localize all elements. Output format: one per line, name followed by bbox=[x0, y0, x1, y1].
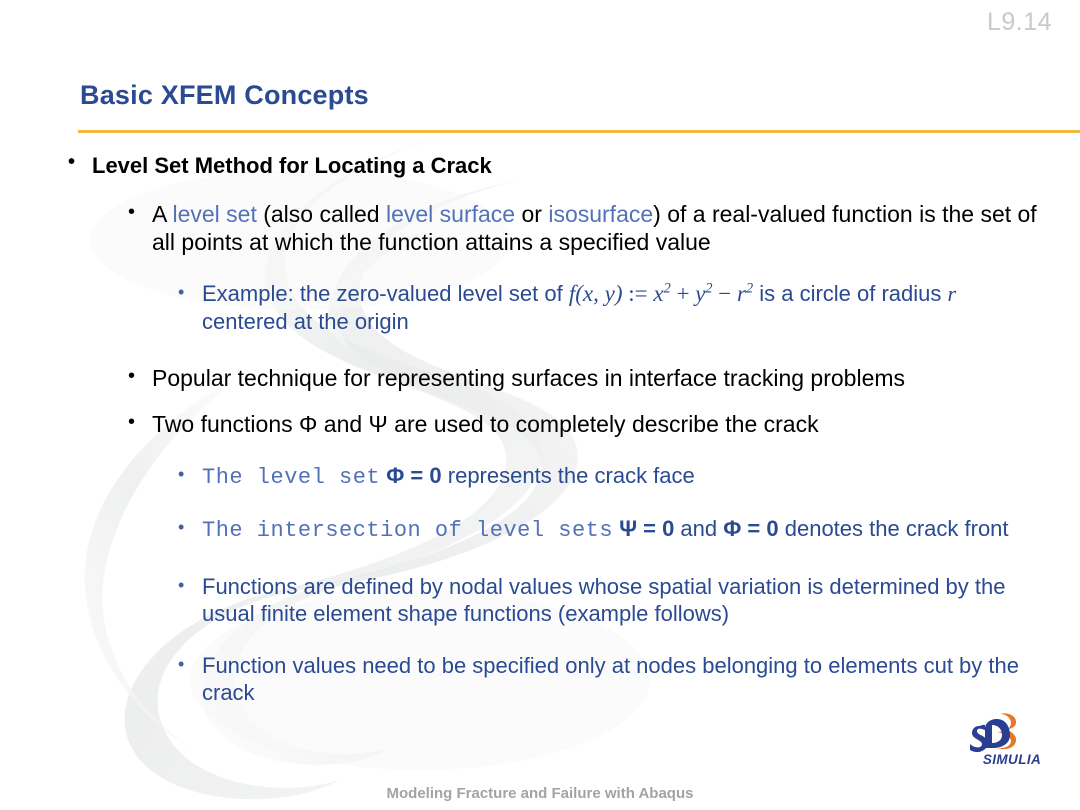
spacer bbox=[0, 398, 1080, 410]
formula-assign: := bbox=[628, 281, 647, 306]
term-level-set: level set bbox=[172, 201, 256, 227]
bullet-text: Level Set Method for Locating a Crack bbox=[92, 152, 1080, 180]
bullet-text: Two functions Φ and Ψ are used to comple… bbox=[152, 410, 1050, 438]
text-fragment: or bbox=[515, 201, 548, 227]
text-fragment: is a circle of radius bbox=[753, 281, 947, 306]
spacer bbox=[0, 634, 1080, 652]
bullet-text: Functions are defined by nodal values wh… bbox=[202, 573, 1045, 628]
bullet-popular-technique: • Popular technique for representing sur… bbox=[0, 364, 1080, 392]
spacer bbox=[0, 444, 1080, 462]
page-title: Basic XFEM Concepts bbox=[80, 80, 369, 111]
slide: L9.14 Basic XFEM Concepts • Level Set Me… bbox=[0, 0, 1080, 810]
bullet-dot-icon: • bbox=[128, 364, 135, 388]
bullet-nodal-values: • Functions are defined by nodal values … bbox=[0, 573, 1080, 628]
bullet-function-values: • Function values need to be specified o… bbox=[0, 652, 1080, 707]
text-fragment: Example: the zero-valued level set of bbox=[202, 281, 569, 306]
math-formula: f(x, y) := x2 + y2 − r2 bbox=[569, 281, 753, 306]
formula-y: y bbox=[695, 281, 705, 306]
text-fragment: and bbox=[674, 516, 723, 541]
bullet-dot-icon: • bbox=[68, 150, 75, 175]
bullet-text: The intersection of level sets Ψ = 0 and… bbox=[202, 515, 1045, 545]
text-fragment: A bbox=[152, 201, 172, 227]
bullet-level-set-definition: • A level set (also called level surface… bbox=[0, 200, 1080, 256]
spacer bbox=[0, 497, 1080, 515]
bullet-crack-front: • The intersection of level sets Ψ = 0 a… bbox=[0, 515, 1080, 545]
bullet-dot-icon: • bbox=[128, 410, 135, 434]
bullet-text: Popular technique for representing surfa… bbox=[152, 364, 1050, 392]
text-fragment: Two functions bbox=[152, 411, 299, 437]
bullet-level1-heading: • Level Set Method for Locating a Crack bbox=[0, 152, 1080, 180]
symbol-phi-equals-zero: Φ = 0 bbox=[386, 463, 441, 488]
text-fragment: denotes the crack front bbox=[779, 516, 1009, 541]
footer-course-title: Modeling Fracture and Failure with Abaqu… bbox=[0, 785, 1080, 802]
ds-monogram-icon bbox=[970, 713, 1016, 752]
formula-x: x bbox=[653, 281, 663, 306]
spacer bbox=[0, 188, 1080, 200]
copyright-notice: © DASSAULT SYSTEMES bbox=[0, 633, 2, 770]
symbol-phi: Φ bbox=[299, 411, 317, 437]
term-level-surface: level surface bbox=[386, 201, 515, 227]
mono-phrase: The level set bbox=[202, 465, 380, 490]
symbol-psi-equals-zero: Ψ = 0 bbox=[619, 516, 674, 541]
variable-r: r bbox=[948, 281, 957, 306]
formula-plus: + bbox=[676, 281, 689, 306]
text-fragment: represents the crack face bbox=[442, 463, 695, 488]
formula-x-exponent: 2 bbox=[664, 280, 671, 296]
formula-args: (x, y) bbox=[575, 281, 622, 306]
bullet-crack-face: • The level set Φ = 0 represents the cra… bbox=[0, 462, 1080, 492]
spacer bbox=[0, 551, 1080, 573]
bullet-text: A level set (also called level surface o… bbox=[152, 200, 1050, 256]
symbol-psi: Ψ bbox=[369, 411, 388, 437]
bullet-example-circle: • Example: the zero-valued level set of … bbox=[0, 280, 1080, 336]
formula-r: r bbox=[737, 281, 746, 306]
simulia-wordmark: SIMULIA bbox=[983, 752, 1041, 767]
bullet-text: Example: the zero-valued level set of f(… bbox=[202, 280, 1045, 336]
symbol-phi-equals-zero: Φ = 0 bbox=[723, 516, 778, 541]
spacer bbox=[0, 262, 1080, 280]
term-isosurface: isosurface bbox=[548, 201, 653, 227]
formula-y-exponent: 2 bbox=[705, 280, 712, 296]
text-fragment: centered at the origin bbox=[202, 309, 409, 334]
mono-phrase: The intersection of level sets bbox=[202, 518, 613, 543]
text-fragment: are used to completely describe the crac… bbox=[388, 411, 819, 437]
slide-body: • Level Set Method for Locating a Crack … bbox=[0, 152, 1080, 713]
bullet-dot-icon: • bbox=[178, 281, 184, 304]
page-number: L9.14 bbox=[987, 8, 1052, 37]
bullet-dot-icon: • bbox=[128, 200, 135, 224]
text-fragment: (also called bbox=[257, 201, 386, 227]
formula-minus: − bbox=[718, 281, 731, 306]
bullet-dot-icon: • bbox=[178, 653, 184, 676]
bullet-text: Function values need to be specified onl… bbox=[202, 652, 1045, 707]
bullet-two-functions: • Two functions Φ and Ψ are used to comp… bbox=[0, 410, 1080, 438]
bullet-text: The level set Φ = 0 represents the crack… bbox=[202, 462, 1045, 492]
spacer bbox=[0, 342, 1080, 364]
bullet-dot-icon: • bbox=[178, 463, 184, 486]
simulia-logo: SIMULIA bbox=[966, 710, 1058, 768]
bullet-dot-icon: • bbox=[178, 516, 184, 539]
text-fragment: and bbox=[317, 411, 368, 437]
title-divider bbox=[78, 130, 1080, 133]
bullet-dot-icon: • bbox=[178, 574, 184, 597]
